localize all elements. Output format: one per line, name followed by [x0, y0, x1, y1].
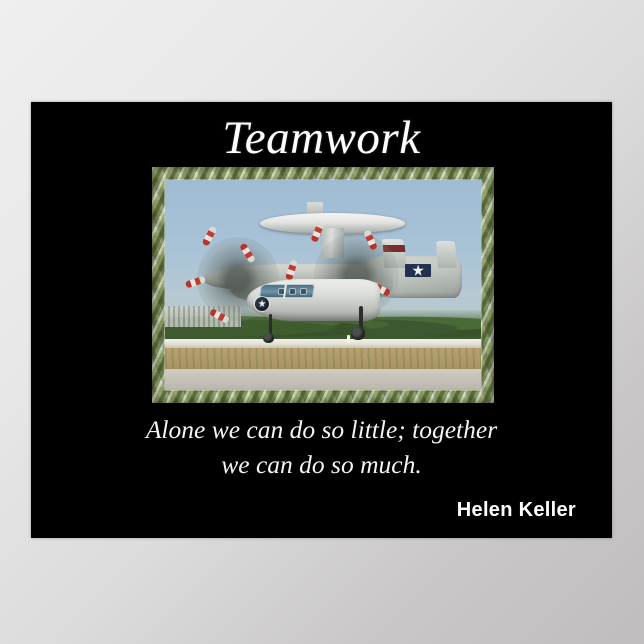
aircraft-cabin-window — [290, 289, 295, 294]
aircraft-nose-insignia-icon — [255, 297, 269, 311]
photo-runway-marker — [347, 335, 350, 343]
poster: Teamwork — [31, 102, 612, 538]
page-title: Teamwork — [31, 110, 612, 166]
photo-runway-edge — [165, 339, 481, 348]
quote-attribution: Helen Keller — [457, 499, 576, 522]
us-navy-star-insignia-icon — [405, 264, 431, 277]
aircraft-cabin-window — [279, 289, 284, 294]
photo-grass-verge — [165, 348, 481, 369]
aircraft-photo — [165, 180, 481, 390]
aircraft-main-wheel — [351, 327, 365, 340]
aircraft-vertical-fin-outer — [436, 241, 457, 268]
quote-text: Alone we can do so little; together we c… — [51, 412, 592, 482]
aircraft-nose-wheel — [263, 333, 274, 343]
photo-tarmac — [165, 369, 481, 390]
aircraft-cabin-window — [301, 289, 306, 294]
quote-line-1: Alone we can do so little; together — [51, 412, 592, 447]
aircraft-cockpit-windows — [259, 284, 315, 298]
page-background: Teamwork — [0, 0, 644, 644]
quote-line-2: we can do so much. — [51, 447, 592, 482]
photo-frame — [152, 167, 494, 403]
